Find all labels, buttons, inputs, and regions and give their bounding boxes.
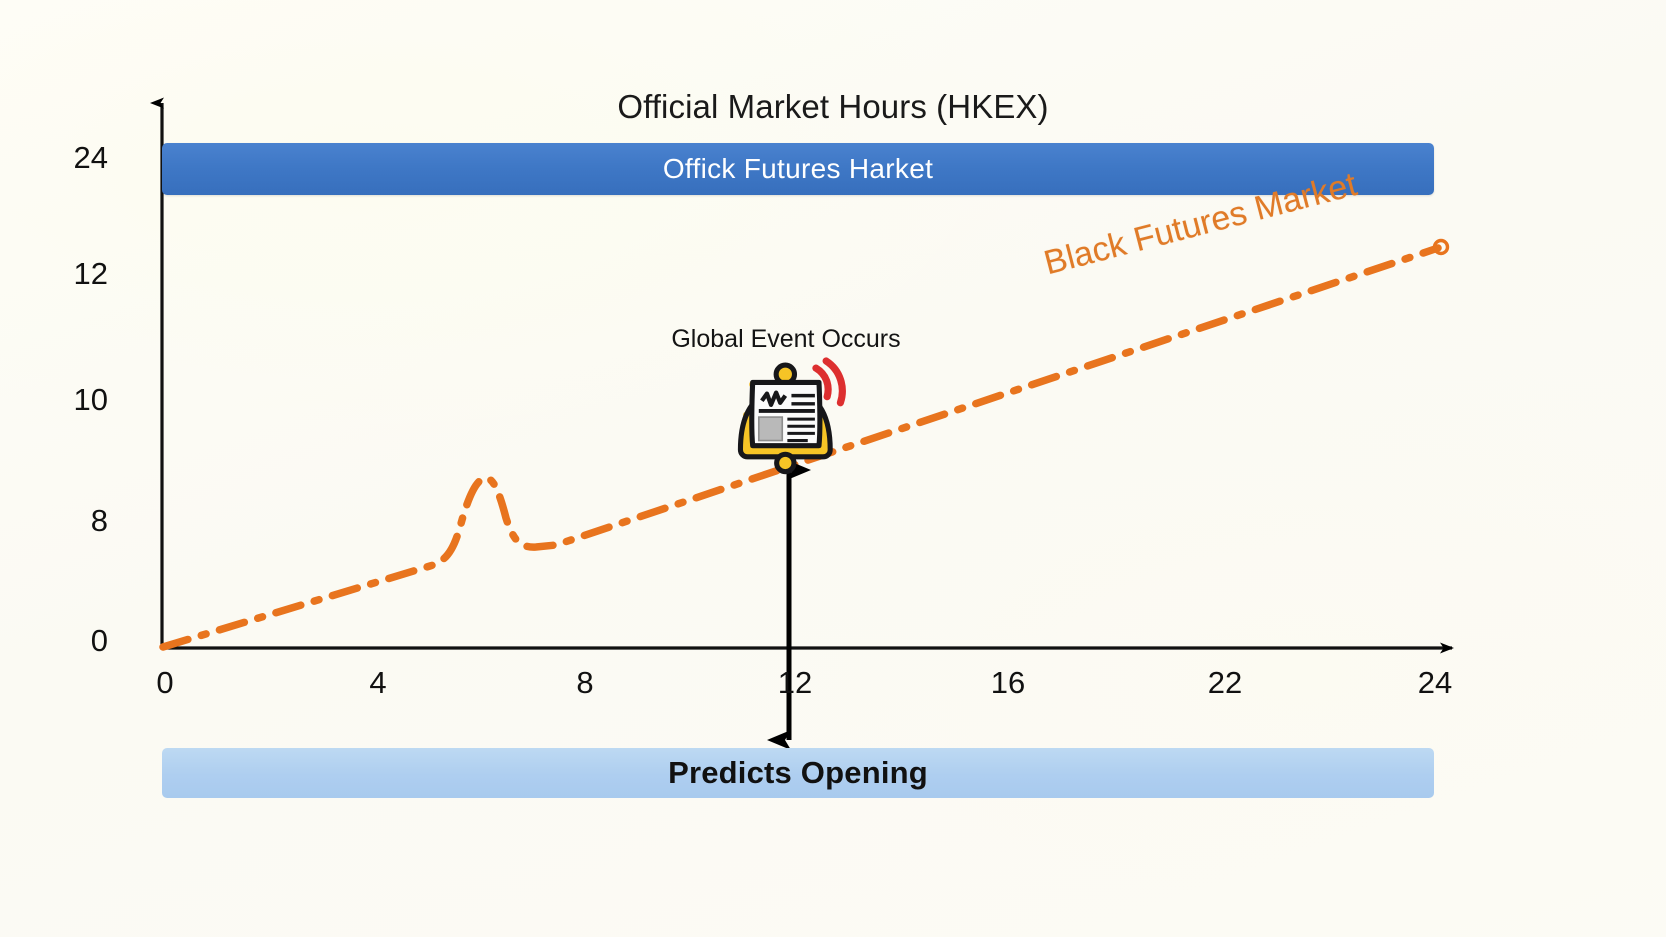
- x-tick-8: 8: [545, 665, 625, 701]
- y-tick-0: 0: [28, 623, 108, 659]
- y-tick-10: 10: [28, 382, 108, 418]
- predicts-opening-band: Predicts Opening: [162, 748, 1434, 798]
- global-event-annotation-text: Global Event Occurs: [671, 325, 900, 353]
- official-market-hours-band: Offick Futures Harket: [162, 143, 1434, 195]
- x-tick-4: 4: [338, 665, 418, 701]
- predicts-opening-band-label: Predicts Opening: [668, 755, 928, 791]
- x-tick-0: 0: [125, 665, 205, 701]
- official-market-hours-band-label: Offick Futures Harket: [663, 153, 933, 185]
- y-tick-24: 24: [28, 140, 108, 176]
- y-tick-8: 8: [28, 503, 108, 539]
- news-alert-bell-icon: [740, 361, 842, 472]
- x-tick-22: 22: [1185, 665, 1265, 701]
- global-event-annotation-label: Global Event Occurs: [0, 325, 1666, 354]
- chart-canvas: Official Market Hours (HKEX) Offick Futu…: [0, 0, 1666, 937]
- x-tick-16: 16: [968, 665, 1048, 701]
- x-tick-24: 24: [1395, 665, 1475, 701]
- y-tick-12: 12: [28, 256, 108, 292]
- x-tick-12: 12: [755, 665, 835, 701]
- chart-title: Official Market Hours (HKEX): [0, 88, 1666, 126]
